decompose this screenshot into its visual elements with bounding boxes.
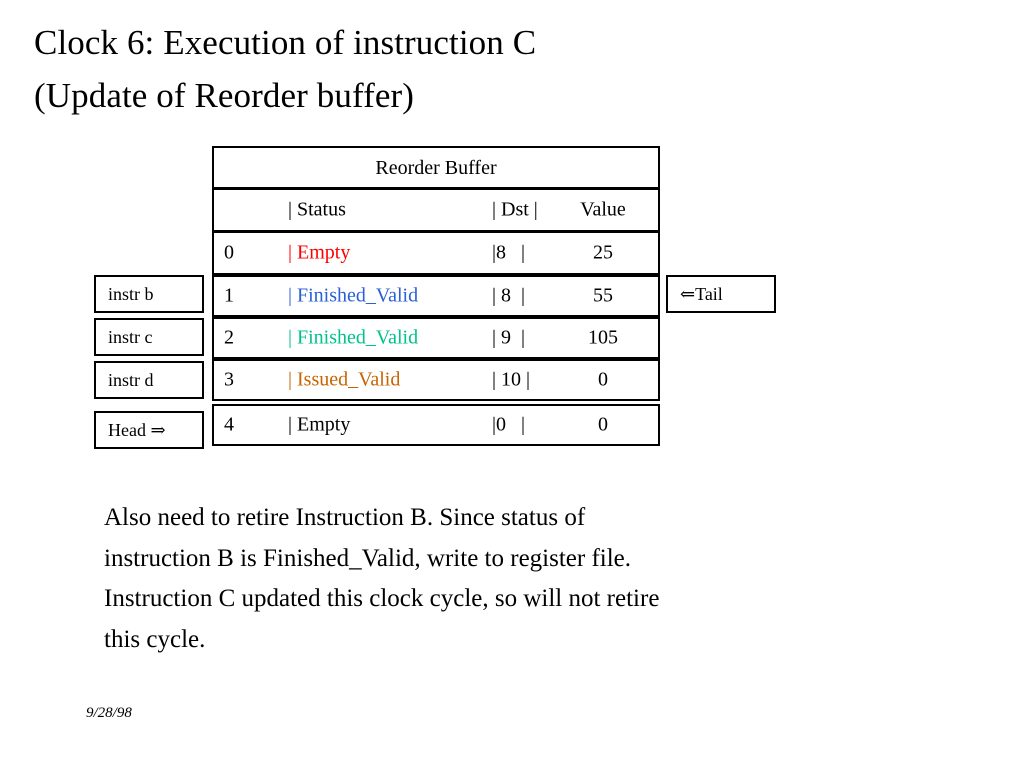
header-dst: | Dst | [492,199,538,222]
row-value: 0 [554,414,652,437]
header-value: Value [554,199,652,222]
head-pointer-label: Head ⇒ [94,411,204,449]
instruction-label-b: instr b [94,275,204,313]
row-status: | Empty [288,414,350,437]
row-dst: | 10 | [492,369,530,392]
table-caption: Reorder Buffer [212,146,660,190]
row-index: 2 [224,327,234,350]
row-index: 4 [224,414,234,437]
row-value: 0 [554,369,652,392]
row-status: | Empty [288,242,350,265]
table-row[interactable]: 1 | Finished_Valid | 8 | 55 [212,275,660,317]
page-title: Clock 6: Execution of instruction C (Upd… [34,16,984,122]
header-status: | Status [288,199,346,222]
row-status: | Issued_Valid [288,369,400,392]
row-status: | Finished_Valid [288,327,418,350]
tail-pointer-label: ⇐Tail [666,275,776,313]
row-index: 0 [224,242,234,265]
reorder-buffer-table: Reorder Buffer | Status | Dst | Value 0 … [212,146,660,446]
table-row[interactable]: 2 | Finished_Valid | 9 | 105 [212,317,660,359]
row-index: 3 [224,369,234,392]
instruction-label-d: instr d [94,361,204,399]
row-dst: | 8 | [492,285,525,308]
row-dst: |8 | [492,242,525,265]
row-value: 25 [554,242,652,265]
row-dst: | 9 | [492,327,525,350]
row-dst: |0 | [492,414,525,437]
row-index: 1 [224,285,234,308]
instruction-label-c: instr c [94,318,204,356]
table-header-row: | Status | Dst | Value [212,190,660,233]
row-status: | Finished_Valid [288,285,418,308]
slide-body-text: Also need to retire Instruction B. Since… [104,498,904,660]
table-row[interactable]: 3 | Issued_Valid | 10 | 0 [212,359,660,401]
table-row[interactable]: 0 | Empty |8 | 25 [212,233,660,275]
table-row[interactable]: 4 | Empty |0 | 0 [212,404,660,446]
slide-date: 9/28/98 [86,705,132,722]
row-value: 55 [554,285,652,308]
row-value: 105 [554,327,652,350]
